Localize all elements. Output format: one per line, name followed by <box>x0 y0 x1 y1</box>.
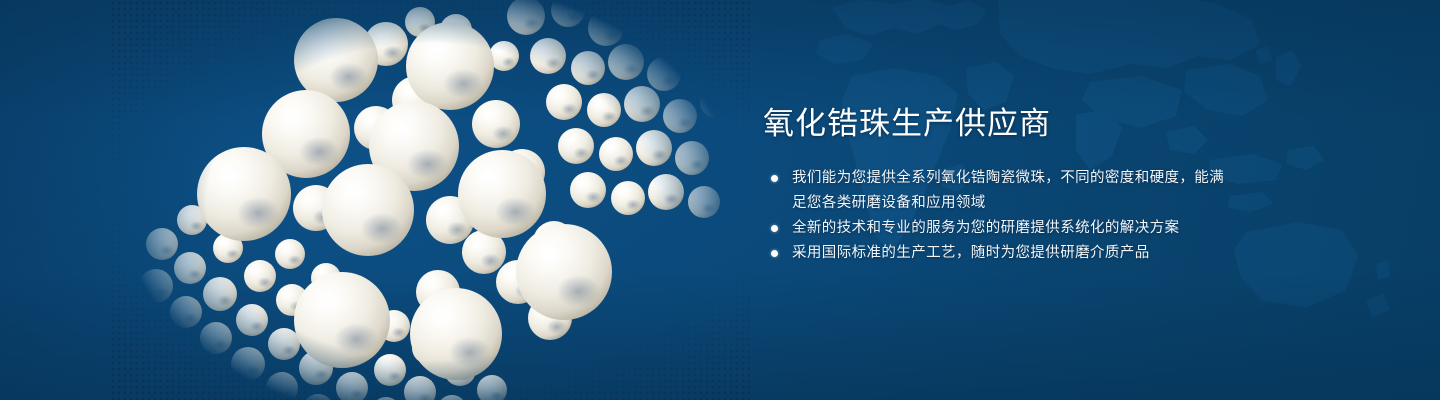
filled-circle-icon <box>771 175 778 182</box>
list-item: 全新的技术和专业的服务为您的研磨提供系统化的解决方案 <box>763 216 1233 241</box>
banner-copy: 氧化锆珠生产供应商 我们能为您提供全系列氧化锆陶瓷微珠，不同的密度和硬度，能满足… <box>763 104 1233 266</box>
list-item: 我们能为您提供全系列氧化锆陶瓷微珠，不同的密度和硬度，能满足您各类研磨设备和应用… <box>763 166 1233 216</box>
list-item-label: 采用国际标准的生产工艺，随时为您提供研磨介质产品 <box>792 245 1150 261</box>
list-item: 采用国际标准的生产工艺，随时为您提供研磨介质产品 <box>763 241 1233 266</box>
promo-banner: 氧化锆珠生产供应商 我们能为您提供全系列氧化锆陶瓷微珠，不同的密度和硬度，能满足… <box>0 0 1440 400</box>
filled-circle-icon <box>771 250 778 257</box>
list-item-label: 全新的技术和专业的服务为您的研磨提供系统化的解决方案 <box>792 220 1179 236</box>
banner-feature-list: 我们能为您提供全系列氧化锆陶瓷微珠，不同的密度和硬度，能满足您各类研磨设备和应用… <box>763 166 1233 266</box>
banner-headline: 氧化锆珠生产供应商 <box>763 104 1233 144</box>
filled-circle-icon <box>771 225 778 232</box>
list-item-label: 我们能为您提供全系列氧化锆陶瓷微珠，不同的密度和硬度，能满足您各类研磨设备和应用… <box>792 170 1224 211</box>
zirconia-beads-image <box>120 0 740 400</box>
